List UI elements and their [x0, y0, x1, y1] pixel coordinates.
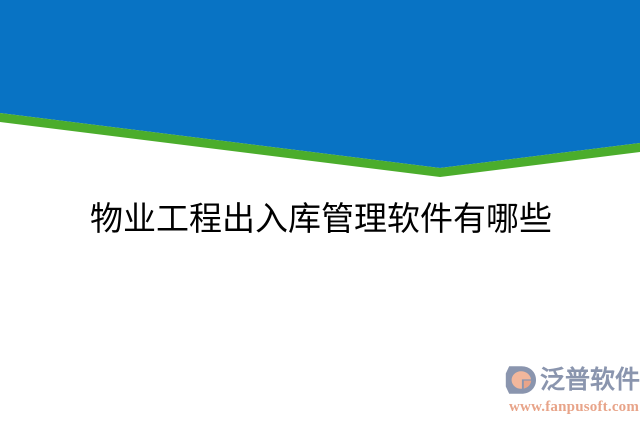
slide-canvas: 物业工程出入库管理软件有哪些 泛普软件 www.fanpusoft.com: [0, 0, 640, 427]
fanpu-crescent-logo-icon: [505, 365, 539, 395]
logo-row: 泛普软件: [505, 363, 640, 397]
chevron-banner: [0, 0, 640, 180]
page-title-text: 物业工程出入库管理软件有哪些: [88, 199, 552, 241]
banner-blue-shape: [0, 0, 640, 168]
page-title: 物业工程出入库管理软件有哪些: [0, 199, 640, 241]
logo-url-text: www.fanpusoft.com: [509, 398, 639, 416]
logo-wordmark: 泛普软件: [540, 365, 640, 395]
brand-logo: 泛普软件 www.fanpusoft.com: [505, 363, 637, 419]
